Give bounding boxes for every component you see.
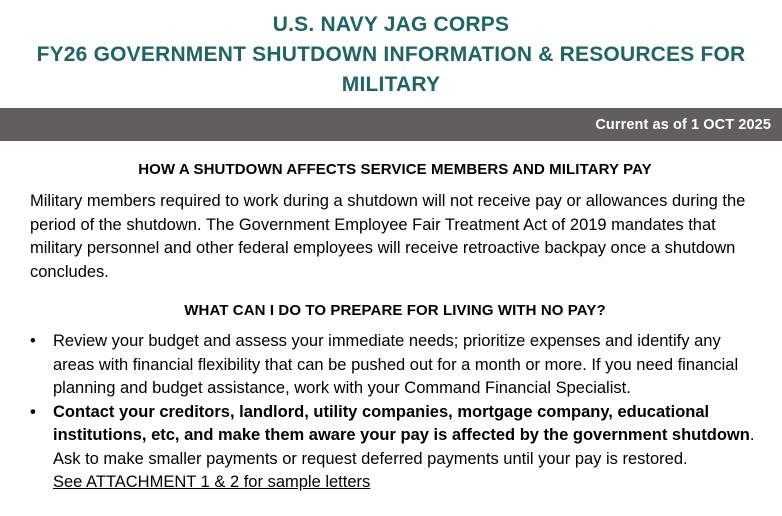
status-banner: Current as of 1 OCT 2025 [0,108,782,141]
section-heading-prepare-no-pay: WHAT CAN I DO TO PREPARE FOR LIVING WITH… [30,302,760,319]
section-paragraph-shutdown-effects: Military members required to work during… [30,190,760,284]
section-heading-shutdown-effects: HOW A SHUTDOWN AFFECTS SERVICE MEMBERS A… [30,161,760,178]
list-item: •Contact your creditors, landlord, utili… [30,401,760,495]
document-body: HOW A SHUTDOWN AFFECTS SERVICE MEMBERS A… [0,161,782,495]
list-item-text: Contact your creditors, landlord, utilit… [53,403,750,445]
preparation-bullet-list: •Review your budget and assess your imme… [30,330,760,495]
attachment-reference-link[interactable]: See ATTACHMENT 1 & 2 for sample letters [53,473,370,491]
bullet-point-icon: • [30,401,36,425]
bullet-point-icon: • [30,330,36,354]
current-as-of-label: Current as of 1 OCT 2025 [595,117,782,133]
list-item: •Review your budget and assess your imme… [30,330,760,401]
document-title-line-2: FY26 GOVERNMENT SHUTDOWN INFORMATION & R… [0,40,782,70]
list-item-text: Review your budget and assess your immed… [53,332,738,397]
document-title-block: U.S. NAVY JAG CORPS FY26 GOVERNMENT SHUT… [0,0,782,100]
document-title-line-3: MILITARY [0,70,782,100]
document-page: U.S. NAVY JAG CORPS FY26 GOVERNMENT SHUT… [0,0,782,516]
document-title-line-1: U.S. NAVY JAG CORPS [0,10,782,40]
